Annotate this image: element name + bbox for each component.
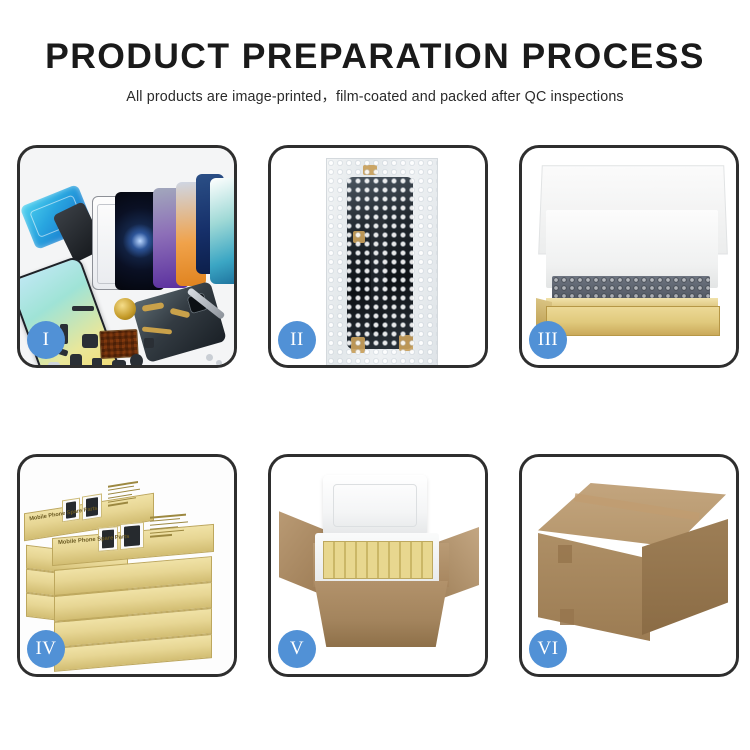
phone-screen-teal: [210, 178, 234, 284]
screw: [216, 360, 222, 365]
process-step-4[interactable]: Mobile Phone Spare Parts Mobile Phone Sp…: [17, 454, 237, 677]
box-spec-lines: [150, 513, 190, 540]
panel-image-stacked-retail-boxes: Mobile Phone Spare Parts Mobile Phone Sp…: [20, 457, 234, 674]
process-step-2[interactable]: II: [268, 145, 488, 368]
packed-retail-boxes: [323, 541, 433, 579]
panel-image-open-kraft-box: III: [522, 148, 736, 365]
page-header: PRODUCT PREPARATION PROCESS All products…: [0, 0, 750, 106]
styrofoam-lid: [323, 475, 427, 537]
process-step-grid: I II III: [17, 145, 740, 677]
process-step-5[interactable]: V: [268, 454, 488, 677]
carton-tab: [558, 545, 572, 563]
bubble-texture: [327, 159, 437, 365]
small-part: [72, 306, 94, 311]
carton-front-panel: [305, 581, 457, 647]
speaker-module: [114, 298, 136, 320]
page-title: PRODUCT PREPARATION PROCESS: [0, 38, 750, 75]
bubble-wrap-bag: [326, 158, 438, 365]
step-badge-2: II: [278, 321, 316, 359]
step-badge-6: VI: [529, 630, 567, 668]
box-front-panel: [546, 306, 720, 336]
small-part: [112, 360, 126, 365]
panel-image-carton-with-styrofoam: V: [271, 457, 485, 674]
small-part: [144, 338, 154, 348]
small-part: [48, 362, 60, 365]
step-badge-5: V: [278, 630, 316, 668]
screw: [206, 354, 213, 361]
process-step-1[interactable]: I: [17, 145, 237, 368]
step-badge-4: IV: [27, 630, 65, 668]
carton-tab: [560, 609, 574, 625]
panel-image-bubble-wrapped-screen: II: [271, 148, 485, 365]
process-step-3[interactable]: III: [519, 145, 739, 368]
page-subtitle: All products are image-printed，film-coat…: [0, 85, 750, 106]
step-badge-1: I: [27, 321, 65, 359]
small-part: [70, 354, 82, 365]
step-badge-3: III: [529, 321, 567, 359]
small-part: [92, 358, 102, 365]
process-step-6[interactable]: VI: [519, 454, 739, 677]
small-part: [130, 354, 143, 365]
panel-image-sealed-carton: VI: [522, 457, 736, 674]
panel-image-parts-assortment: I: [20, 148, 234, 365]
small-part: [82, 334, 98, 348]
